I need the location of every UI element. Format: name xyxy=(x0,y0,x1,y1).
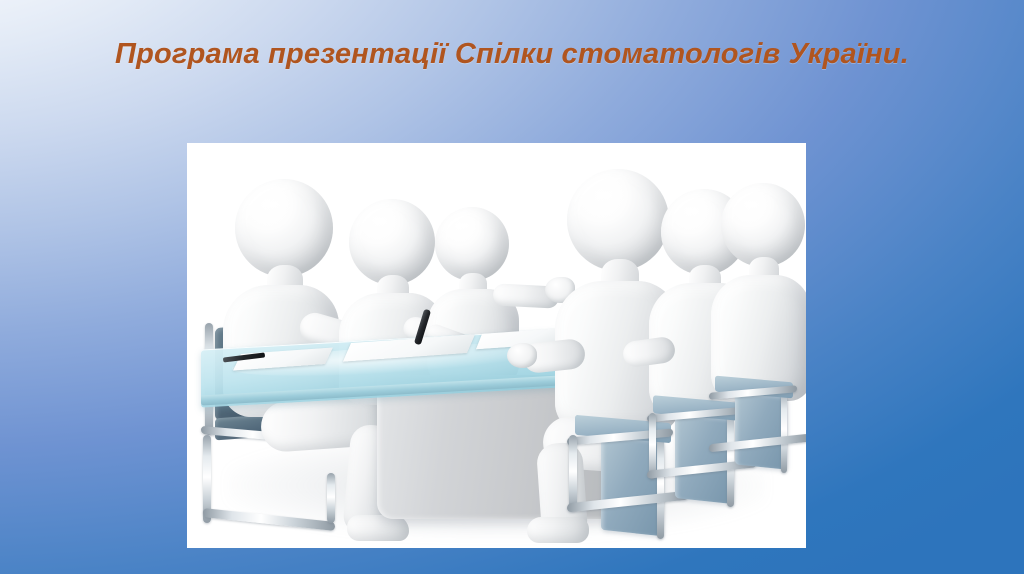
figure-head-4 xyxy=(567,169,669,271)
figure-head-2 xyxy=(349,199,435,285)
chair-frame-right-1-post xyxy=(657,433,664,539)
chair-frame-right-2-post xyxy=(727,411,734,507)
figure-head-6 xyxy=(721,183,805,267)
figure-head-3 xyxy=(435,207,509,281)
meeting-illustration xyxy=(187,143,806,548)
page-title: Програма презентації Спілки стоматологів… xyxy=(0,38,1024,71)
chair-frame-left-base-rear xyxy=(327,473,335,523)
figure-hand-4 xyxy=(507,343,537,368)
chair-frame-right-1-leg xyxy=(569,435,577,511)
chair-back-right-3 xyxy=(735,390,787,469)
illustration-scene xyxy=(187,143,806,548)
figure-foot-4 xyxy=(527,517,589,543)
chair-frame-right-3-post xyxy=(781,389,787,473)
presentation-slide: Програма презентації Спілки стоматологів… xyxy=(0,0,1024,574)
chair-back-right-2 xyxy=(675,412,733,504)
figure-head-1 xyxy=(235,179,333,277)
